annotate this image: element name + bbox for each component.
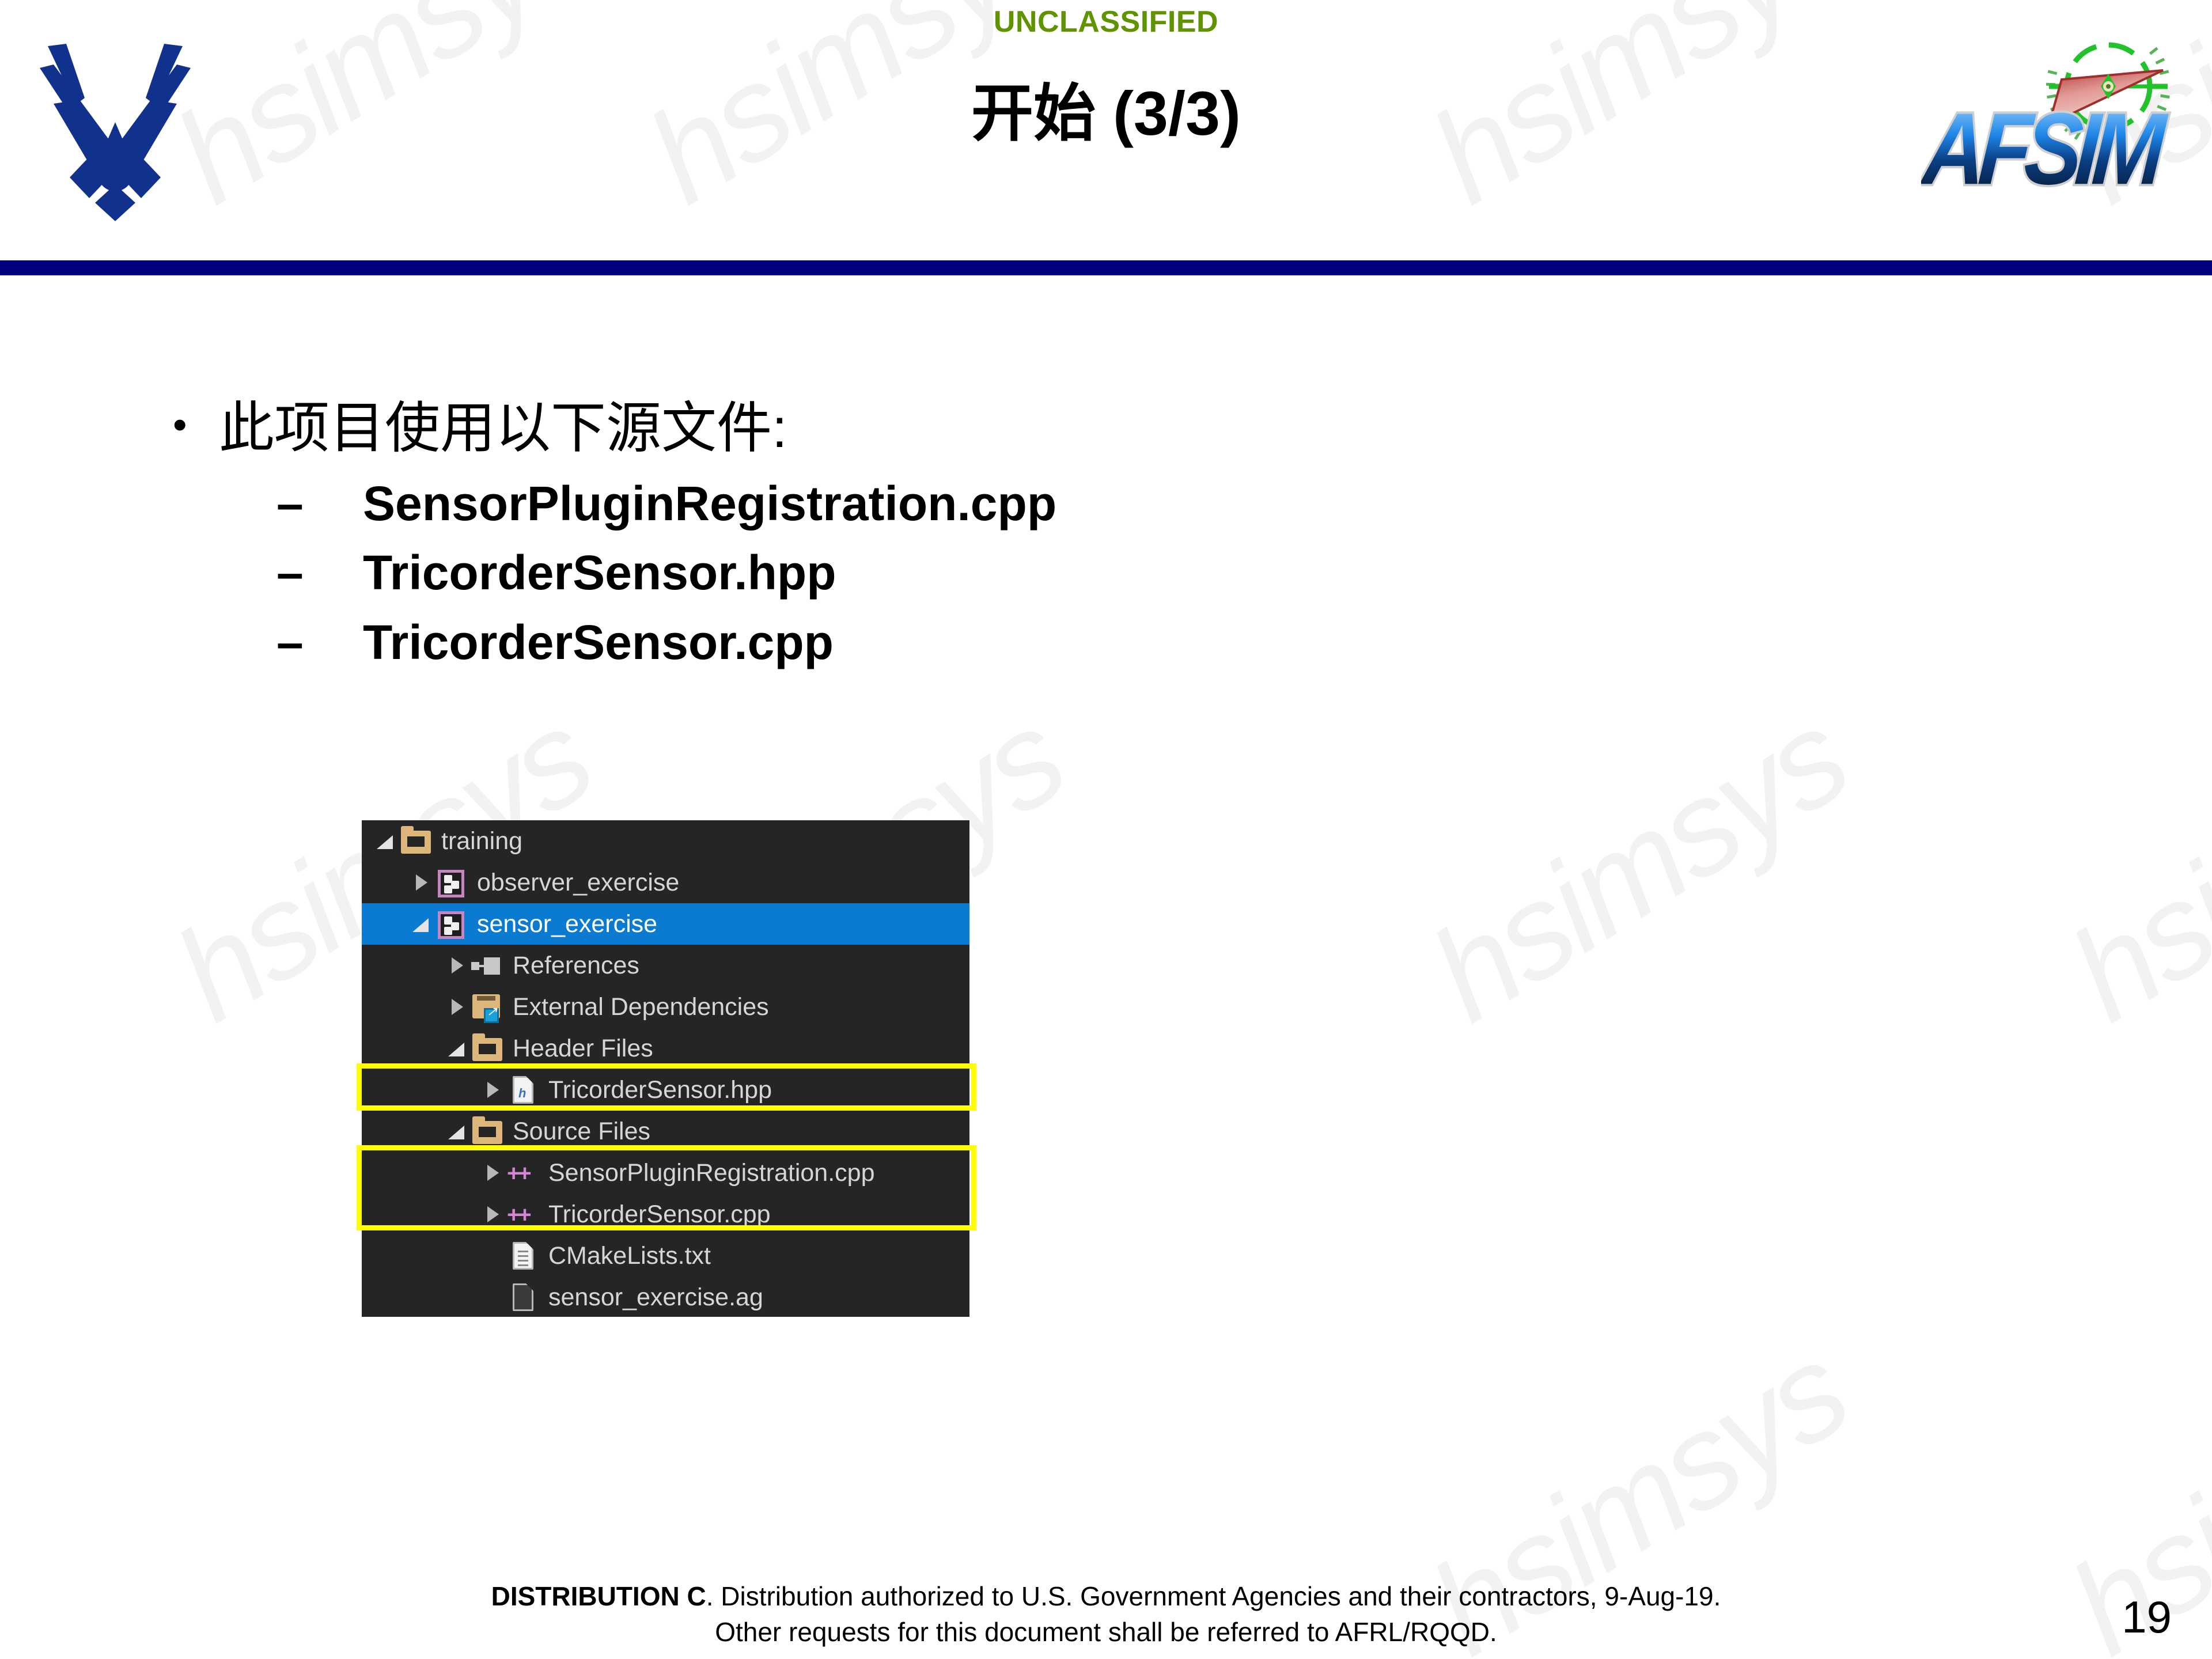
references-icon bbox=[470, 949, 506, 982]
project-icon bbox=[434, 866, 470, 899]
tree-item-sensor-exercise-ag[interactable]: sensor_exercise.ag bbox=[362, 1277, 969, 1317]
generic-file-icon bbox=[506, 1281, 541, 1313]
expander-down-icon[interactable] bbox=[408, 903, 434, 945]
bullet-sub: – TricorderSensor.hpp bbox=[276, 545, 1901, 601]
tree-item-label: Source Files bbox=[513, 1119, 650, 1144]
header-divider bbox=[0, 260, 2212, 275]
tree-item-label: References bbox=[513, 953, 639, 978]
tree-item-label: training bbox=[441, 829, 522, 854]
classification-banner: UNCLASSIFIED bbox=[0, 5, 2212, 39]
tree-item-training[interactable]: training bbox=[362, 820, 969, 862]
distribution-statement: DISTRIBUTION C. Distribution authorized … bbox=[0, 1578, 2212, 1650]
tree-item-header-files[interactable]: Header Files bbox=[362, 1028, 969, 1069]
expander-right-icon[interactable] bbox=[408, 862, 434, 903]
expander-right-icon[interactable] bbox=[444, 945, 470, 986]
page-number: 19 bbox=[2122, 1591, 2172, 1643]
us-air-force-wings-logo bbox=[20, 23, 210, 225]
tree-item-external-dependencies[interactable]: External Dependencies bbox=[362, 986, 969, 1028]
svg-text:AFSIM: AFSIM bbox=[1921, 92, 2171, 206]
watermark-text: hsimsys bbox=[1406, 681, 1872, 1051]
bullet-sub: – TricorderSensor.cpp bbox=[276, 615, 1901, 671]
tree-item-label: Header Files bbox=[513, 1036, 653, 1061]
bullet-sub-text: SensorPluginRegistration.cpp bbox=[363, 476, 1056, 532]
afsim-logo: AFSIM bbox=[1921, 17, 2209, 236]
bullet-sub-marker: – bbox=[276, 615, 363, 671]
page-title: 开始 (3/3) bbox=[0, 81, 2212, 146]
tree-item-label: TricorderSensor.cpp bbox=[548, 1202, 771, 1227]
tree-item-references[interactable]: References bbox=[362, 945, 969, 986]
tree-item-tricordersensor-hpp[interactable]: h TricorderSensor.hpp bbox=[362, 1069, 969, 1111]
external-dependencies-icon bbox=[470, 991, 506, 1023]
distribution-line2: Other requests for this document shall b… bbox=[0, 1614, 2212, 1650]
expander-placeholder bbox=[479, 1235, 506, 1277]
bullet-sub-text: TricorderSensor.cpp bbox=[363, 615, 834, 671]
tree-item-label: External Dependencies bbox=[513, 995, 769, 1020]
cpp-file-icon: ++ bbox=[506, 1157, 541, 1189]
tree-item-label: sensor_exercise bbox=[477, 912, 657, 937]
tree-item-source-files[interactable]: Source Files bbox=[362, 1111, 969, 1152]
distribution-line1: . Distribution authorized to U.S. Govern… bbox=[706, 1581, 1721, 1611]
bullet-primary: • 此项目使用以下源文件: bbox=[173, 397, 1901, 460]
expander-down-icon[interactable] bbox=[444, 1028, 470, 1069]
bullet-marker: • bbox=[173, 397, 219, 452]
cpp-file-icon: ++ bbox=[506, 1198, 541, 1230]
tree-item-label: CMakeLists.txt bbox=[548, 1244, 711, 1268]
expander-right-icon[interactable] bbox=[479, 1152, 506, 1194]
watermark-text: hsimsys bbox=[2045, 681, 2212, 1051]
bullet-primary-text: 此项目使用以下源文件: bbox=[219, 397, 787, 460]
text-file-icon bbox=[506, 1240, 541, 1272]
bullet-sub-marker: – bbox=[276, 476, 363, 532]
header-file-icon: h bbox=[506, 1074, 541, 1106]
tree-item-sensorpluginregistration-cpp[interactable]: ++ SensorPluginRegistration.cpp bbox=[362, 1152, 969, 1194]
bullet-sub-text: TricorderSensor.hpp bbox=[363, 545, 836, 601]
filter-folder-icon bbox=[470, 1032, 506, 1065]
distribution-label: DISTRIBUTION C bbox=[491, 1581, 706, 1611]
expander-right-icon[interactable] bbox=[444, 986, 470, 1028]
project-icon bbox=[434, 908, 470, 940]
expander-placeholder bbox=[479, 1277, 506, 1317]
solution-explorer-panel[interactable]: training observer_exercise sensor_exerci… bbox=[362, 820, 969, 1317]
bullet-sub-marker: – bbox=[276, 545, 363, 601]
tree-item-cmakelists-txt[interactable]: CMakeLists.txt bbox=[362, 1235, 969, 1277]
tree-item-sensor-exercise[interactable]: sensor_exercise bbox=[362, 903, 969, 945]
folder-icon bbox=[399, 825, 434, 857]
expander-down-icon[interactable] bbox=[444, 1111, 470, 1152]
tree-item-label: TricorderSensor.hpp bbox=[548, 1078, 772, 1103]
filter-folder-icon bbox=[470, 1115, 506, 1147]
expander-right-icon[interactable] bbox=[479, 1069, 506, 1111]
tree-item-label: observer_exercise bbox=[477, 870, 679, 895]
tree-item-tricordersensor-cpp[interactable]: ++ TricorderSensor.cpp bbox=[362, 1194, 969, 1235]
tree-item-observer-exercise[interactable]: observer_exercise bbox=[362, 862, 969, 903]
watermark-layer: hsimsys hsimsys hsimsys hsimsys hsimsys … bbox=[0, 0, 2212, 1659]
expander-down-icon[interactable] bbox=[372, 820, 399, 862]
expander-right-icon[interactable] bbox=[479, 1194, 506, 1235]
tree-item-label: SensorPluginRegistration.cpp bbox=[548, 1161, 875, 1185]
content-bullet-list: • 此项目使用以下源文件: – SensorPluginRegistration… bbox=[173, 397, 1901, 684]
bullet-sub: – SensorPluginRegistration.cpp bbox=[276, 476, 1901, 532]
tree-item-label: sensor_exercise.ag bbox=[548, 1285, 763, 1310]
